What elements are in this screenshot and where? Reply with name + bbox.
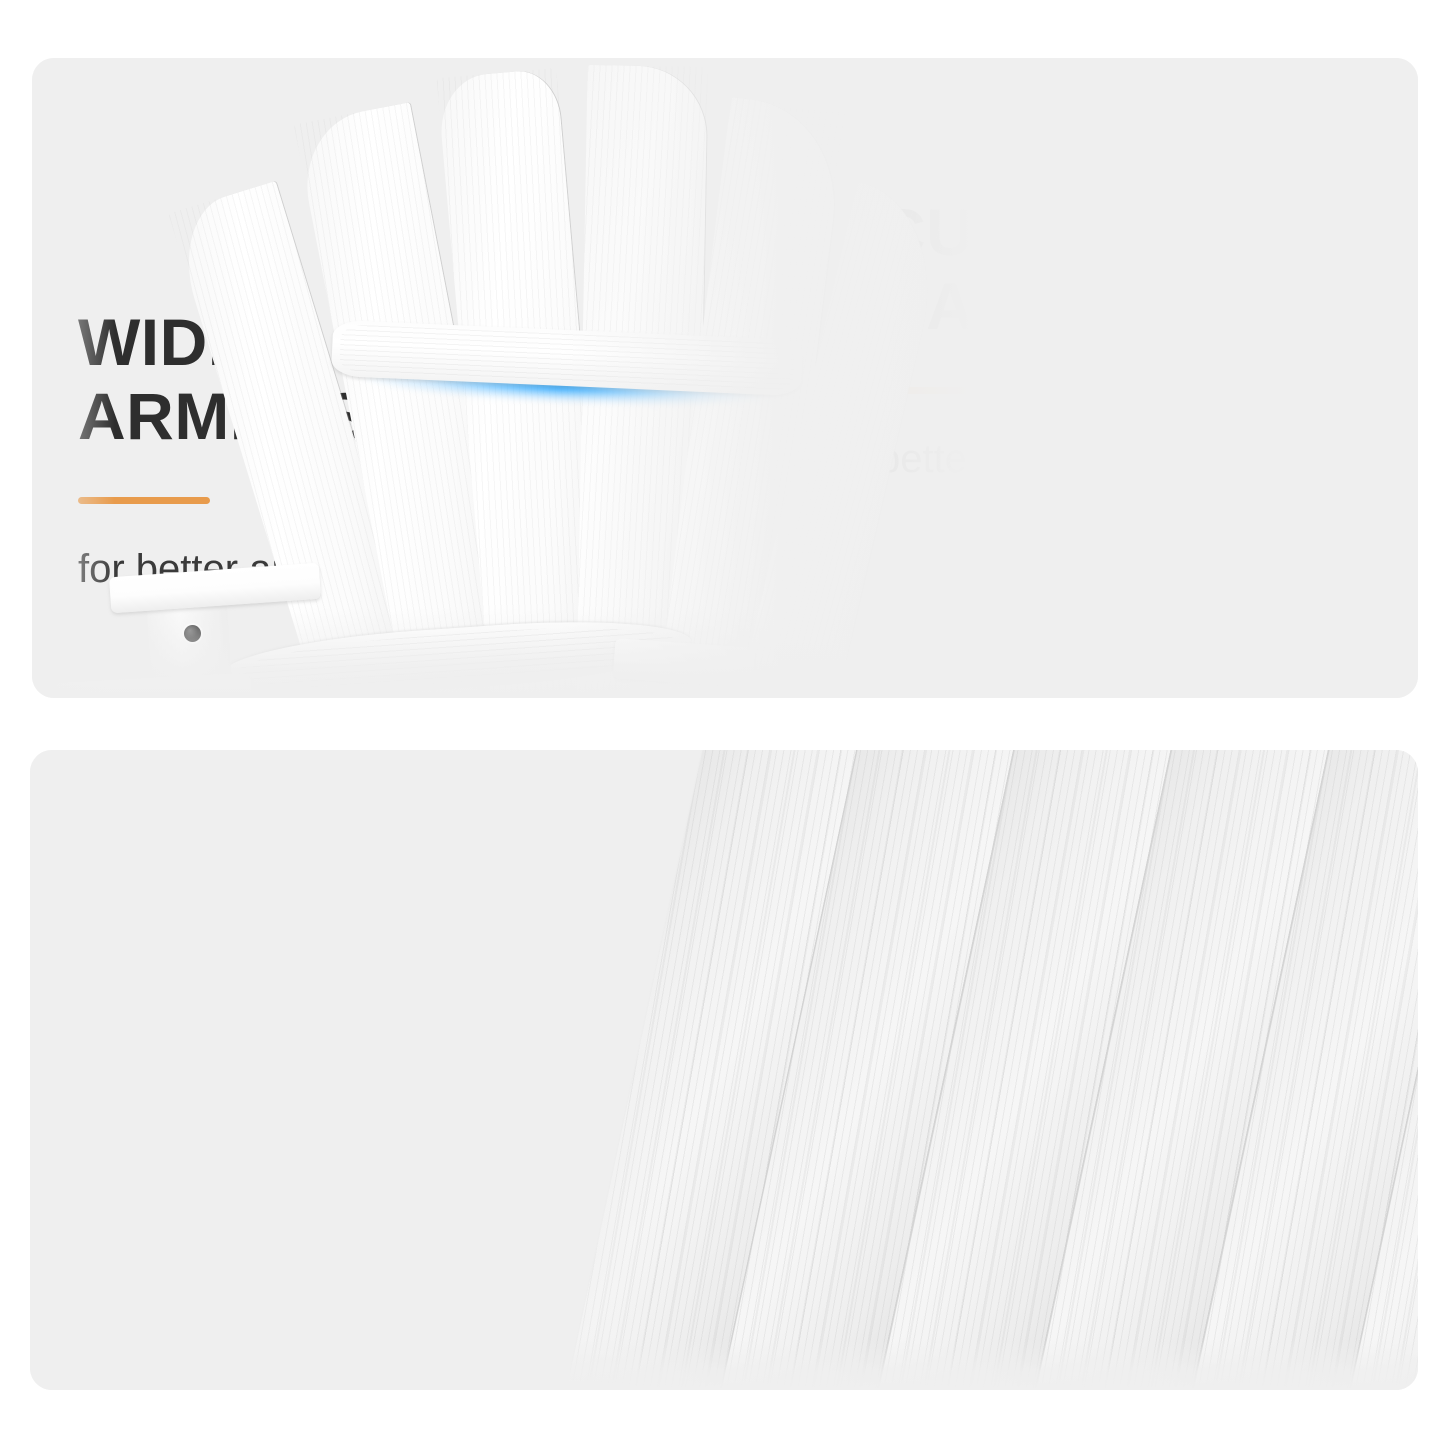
backrest-slats-angled: [590, 750, 1418, 1390]
photo2-fade-left: [30, 750, 668, 1390]
infographic-page: CURVED BACKREST better fit the body: [0, 0, 1445, 1445]
accent-divider: [78, 497, 210, 504]
subline: better fit the body: [878, 436, 1348, 482]
feature-text-curved-backrest: CURVED BACKREST better fit the body: [878, 195, 1348, 482]
product-photo-wide-armrests: [30, 750, 1418, 1390]
feature-panel-wide-armrests: [30, 750, 1418, 1390]
armrest-screw-upper: [184, 625, 201, 642]
headline-line-2: BACKREST: [878, 269, 1348, 343]
